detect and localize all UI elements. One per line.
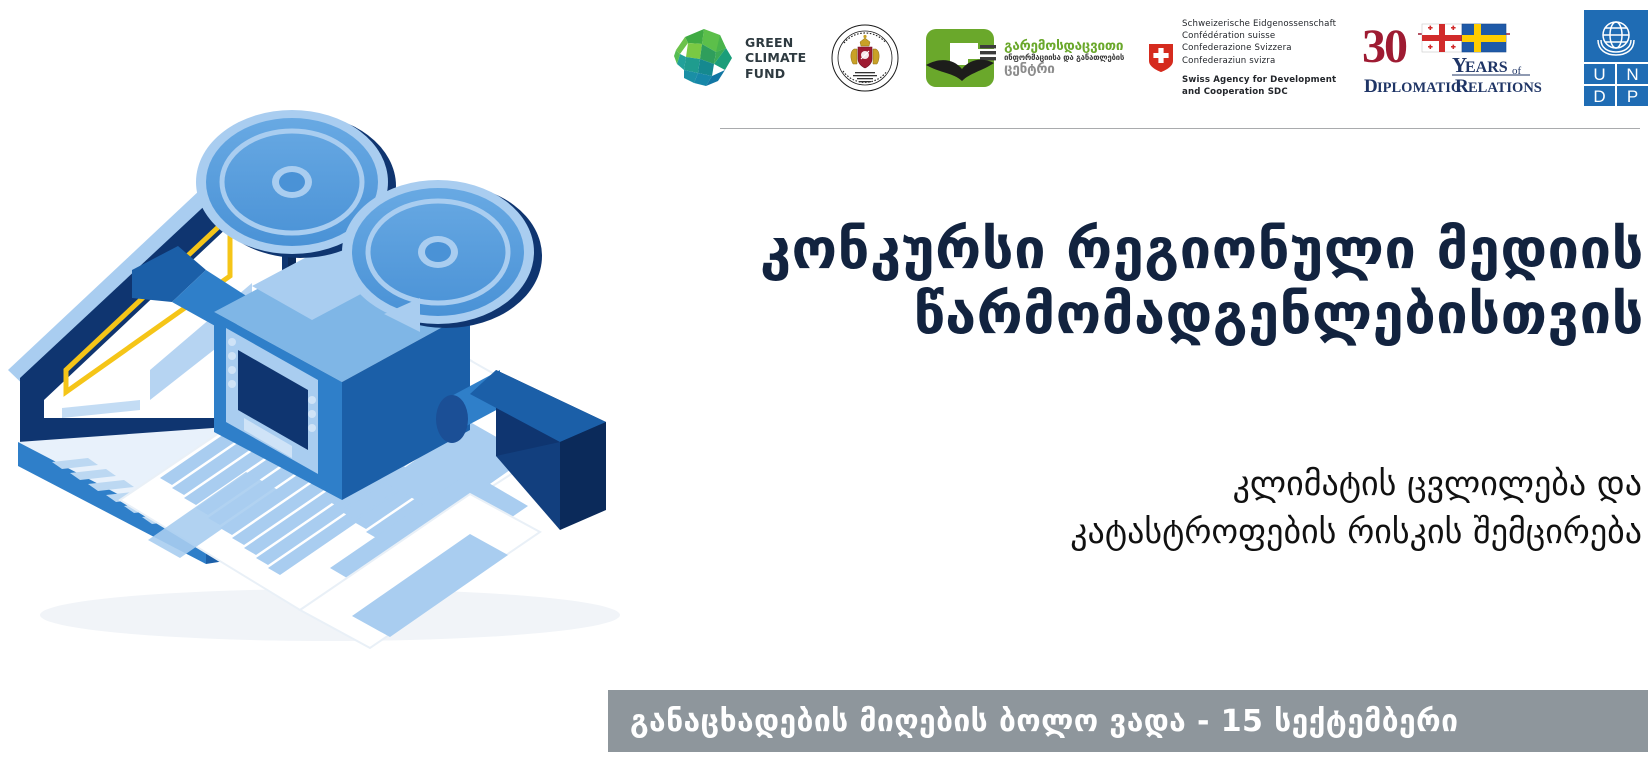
sdc-wordmark: Schweizerische Eidgenossenschaft Confédé…	[1182, 18, 1336, 98]
green-climate-fund-wordmark: GREEN CLIMATE FUND	[745, 35, 806, 81]
georgia-flag-icon	[1422, 24, 1462, 52]
eiec-line-1: გარემოსდაცვითი	[1004, 39, 1124, 54]
partner-logo-strip: GREEN CLIMATE FUND	[672, 8, 1648, 108]
eiec-book-mark-icon	[924, 25, 998, 91]
undp-letter-p: P	[1627, 87, 1638, 106]
logo-green-climate-fund: GREEN CLIMATE FUND	[672, 26, 806, 90]
green-climate-fund-sphere-icon	[672, 26, 736, 90]
deadline-text: განაცხადების მიღების ბოლო ვადა - 15 სექტ…	[608, 704, 1458, 739]
gcf-line-3: FUND	[745, 66, 806, 81]
georgia-coat-of-arms-seal-icon	[830, 23, 900, 93]
logo-undp: U N D P	[1584, 10, 1648, 106]
headline-line-1: კონკურსი რეგიონული მედიის	[660, 218, 1644, 283]
logo-thirty-years-diplomatic-relations: 30	[1360, 18, 1560, 98]
deadline-bar: განაცხადების მიღების ბოლო ვადა - 15 სექტ…	[608, 690, 1648, 752]
sweden-flag-icon	[1462, 24, 1506, 52]
illustration-laptop-newspaper-camera	[0, 70, 700, 650]
logo-swiss-agency-development-cooperation: Schweizerische Eidgenossenschaft Confédé…	[1148, 18, 1336, 98]
gcf-line-2: CLIMATE	[745, 50, 806, 65]
logo-national-environmental-agency-seal	[830, 23, 900, 93]
undp-letter-n: N	[1626, 65, 1638, 84]
sdc-line-rm: Confederaziun svizra	[1182, 55, 1336, 67]
sdc-agency-line-2: and Cooperation SDC	[1182, 86, 1336, 98]
headline-line-2: წარმომადგენლებისთვის	[660, 283, 1644, 348]
undp-letter-u: U	[1593, 65, 1605, 84]
page-subtitle: კლიმატის ცვლილება და კატასტროფების რისკი…	[660, 460, 1648, 557]
sdc-line-it: Confederazione Svizzera	[1182, 42, 1336, 54]
svg-text:ELATIONS: ELATIONS	[1468, 80, 1542, 96]
eiec-wordmark: გარემოსდაცვითი ინფორმაციისა და განათლები…	[1004, 39, 1124, 77]
svg-text:D: D	[1364, 76, 1378, 97]
gcf-line-1: GREEN	[745, 35, 806, 50]
poster-root: GREEN CLIMATE FUND	[0, 0, 1648, 768]
swiss-cross-shield-icon	[1148, 43, 1174, 73]
subtitle-line-1: კლიმატის ცვლილება და	[660, 460, 1642, 508]
page-title: კონკურსი რეგიონული მედიის წარმომადგენლებ…	[660, 218, 1648, 348]
eiec-line-3: ცენტრი	[1004, 62, 1124, 77]
thirty-years-diplomatic-relations-icon: 30	[1360, 18, 1560, 98]
undp-letter-d: D	[1593, 87, 1605, 106]
logo-environmental-info-education-center: გარემოსდაცვითი ინფორმაციისა და განათლები…	[924, 25, 1124, 91]
header-divider	[720, 128, 1640, 129]
subtitle-line-2: კატასტროფების რისკის შემცირება	[660, 508, 1642, 556]
svg-text:30: 30	[1362, 20, 1407, 73]
sdc-agency-line-1: Swiss Agency for Development	[1182, 74, 1336, 86]
sdc-line-fr: Confédération suisse	[1182, 30, 1336, 42]
undp-emblem-icon: U N D P	[1584, 10, 1648, 106]
svg-text:R: R	[1455, 76, 1469, 97]
sdc-line-de: Schweizerische Eidgenossenschaft	[1182, 18, 1336, 30]
svg-text:IPLOMATIC: IPLOMATIC	[1377, 80, 1461, 96]
svg-text:EARS: EARS	[1465, 59, 1508, 76]
